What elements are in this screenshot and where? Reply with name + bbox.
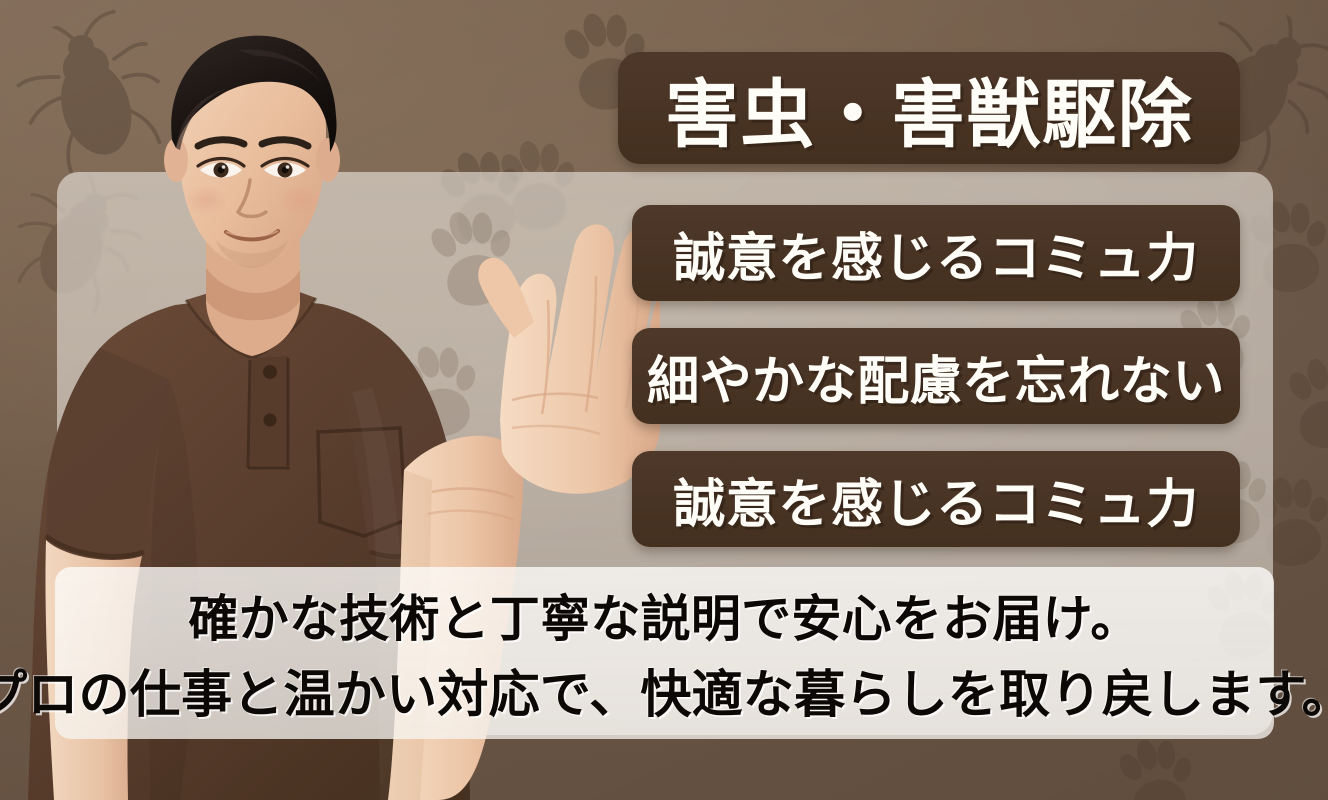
title-banner: 害虫・害獣駆除 — [618, 52, 1240, 164]
bottom-message-line-1: 確かな技術と丁寧な説明で安心をお届け。 — [188, 579, 1140, 651]
feature-banner-2: 細やかな配慮を忘れない — [632, 328, 1240, 424]
poster-canvas: 害虫・害獣駆除 誠意を感じるコミュ力 細やかな配慮を忘れない 誠意を感じるコミュ… — [0, 0, 1328, 800]
feature-banner-3-text: 誠意を感じるコミュ力 — [673, 462, 1198, 537]
bottom-message-panel: 確かな技術と丁寧な説明で安心をお届け。 プロの仕事と温かい対応で、快適な暮らしを… — [55, 567, 1274, 739]
feature-banner-1-text: 誠意を感じるコミュ力 — [673, 216, 1198, 291]
feature-banner-2-text: 細やかな配慮を忘れない — [647, 339, 1225, 414]
title-banner-text: 害虫・害獣駆除 — [665, 55, 1193, 162]
feature-banner-1: 誠意を感じるコミュ力 — [632, 205, 1240, 301]
face — [164, 36, 340, 268]
feature-banner-3: 誠意を感じるコミュ力 — [632, 451, 1240, 547]
bottom-message-line-2: プロの仕事と温かい対応で、快適な暮らしを取り戻します。 — [0, 653, 1328, 727]
